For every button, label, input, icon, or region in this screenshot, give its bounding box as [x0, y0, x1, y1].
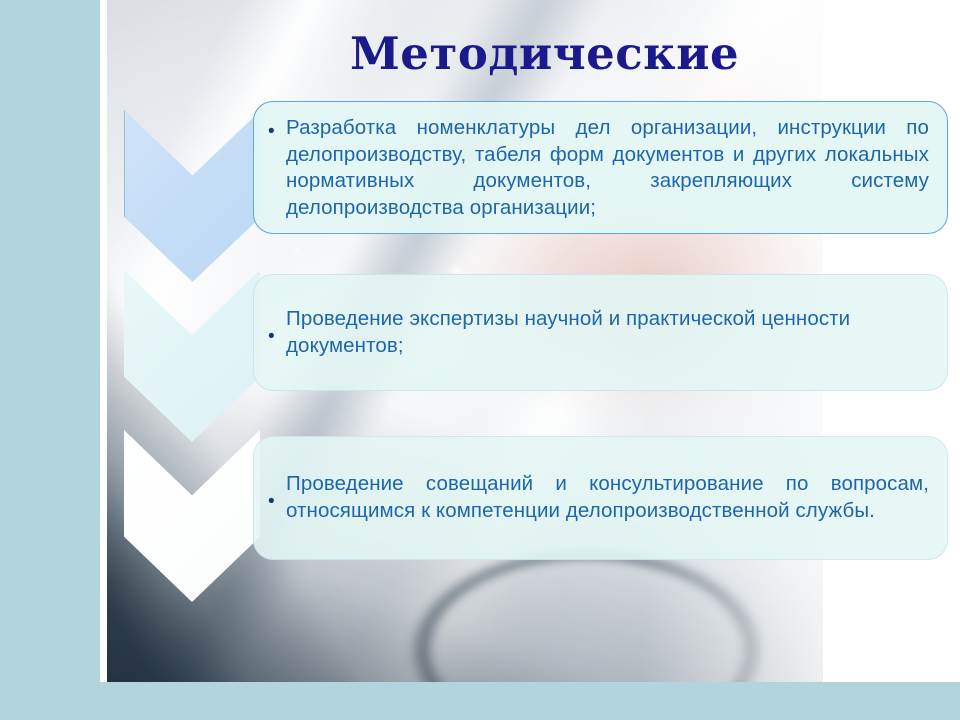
bullet-box-3: • Проведение совещаний и консультировани…: [253, 436, 948, 560]
bullet-box-2: • Проведение экспертизы научной и практи…: [253, 274, 948, 391]
bullet-dot-icon: •: [268, 327, 286, 346]
bullet-text-3: Проведение совещаний и консультирование …: [286, 471, 929, 524]
bullet-box-1: • Разработка номенклатуры дел организаци…: [253, 101, 948, 234]
bullet-dot-icon: •: [268, 492, 286, 511]
slide-canvas: Методические • Разработка номенклатуры д…: [0, 0, 960, 720]
slide-title: Методические: [350, 30, 739, 78]
bullet-text-1: Разработка номенклатуры дел организации,…: [286, 115, 929, 222]
bullet-dot-icon: •: [268, 122, 286, 141]
left-accent-band: [0, 0, 100, 720]
bullet-text-2: Проведение экспертизы научной и практиче…: [286, 306, 929, 359]
bottom-accent-band: [0, 682, 960, 720]
